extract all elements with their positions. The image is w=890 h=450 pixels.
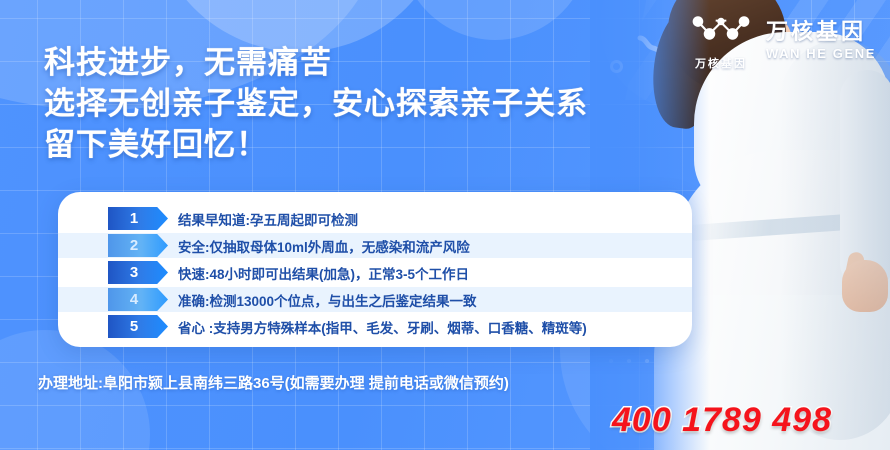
logo-name-cn: 万核基因 [766, 20, 876, 43]
feature-text: 安全:仅抽取母体10ml外周血，无感染和流产风险 [178, 236, 470, 256]
address-text: 办理地址:阜阳市颍上县南纬三路36号(如需要办理 提前电话或微信预约) [38, 372, 509, 393]
brand-logo[interactable]: 万核基因 万核基因 WAN HE GENE [688, 10, 876, 71]
molecule-dna-icon: 万核基因 [688, 10, 754, 71]
feature-number-badge: 4 [108, 288, 168, 311]
feature-number-badge: 3 [108, 261, 168, 284]
headline-block: 科技进步，无需痛苦 选择无创亲子鉴定，安心探索亲子关系 留下美好回忆！ [44, 42, 588, 166]
headline-line-2: 选择无创亲子鉴定，安心探索亲子关系 [44, 83, 588, 124]
feature-number: 1 [130, 210, 138, 227]
headline-line-3: 留下美好回忆！ [44, 124, 588, 165]
feature-text: 快速:48小时即可出结果(加急)，正常3-5个工作日 [178, 263, 469, 283]
feature-row: 4 准确:检测13000个位点，与出生之后鉴定结果一致 [58, 287, 692, 312]
feature-number: 3 [130, 264, 138, 281]
feature-card: 1 结果早知道:孕五周起即可检测 2 安全:仅抽取母体10ml外周血，无感染和流… [58, 192, 692, 347]
feature-number: 2 [130, 237, 138, 254]
feature-row: 5 省心 :支持男方特殊样本(指甲、毛发、牙刷、烟蒂、口香糖、精斑等) [58, 314, 692, 339]
poster-background: 万核基因 万核基因 WAN HE GENE 科技进步，无需痛苦 选择无创亲子鉴定… [0, 0, 890, 450]
logo-mark-caption: 万核基因 [688, 55, 754, 71]
feature-row: 2 安全:仅抽取母体10ml外周血，无感染和流产风险 [58, 233, 692, 258]
feature-number: 5 [130, 318, 138, 335]
logo-name-en: WAN HE GENE [766, 46, 876, 61]
phone-number[interactable]: 400 1789 498 [612, 401, 832, 440]
feature-number-badge: 2 [108, 234, 168, 257]
feature-text: 省心 :支持男方特殊样本(指甲、毛发、牙刷、烟蒂、口香糖、精斑等) [178, 317, 587, 337]
feature-row: 3 快速:48小时即可出结果(加急)，正常3-5个工作日 [58, 260, 692, 285]
feature-text: 结果早知道:孕五周起即可检测 [178, 209, 358, 229]
headline-line-1: 科技进步，无需痛苦 [44, 42, 588, 83]
feature-number: 4 [130, 291, 138, 308]
feature-text: 准确:检测13000个位点，与出生之后鉴定结果一致 [178, 290, 477, 310]
feature-row: 1 结果早知道:孕五周起即可检测 [58, 206, 692, 231]
feature-number-badge: 1 [108, 207, 168, 230]
feature-number-badge: 5 [108, 315, 168, 338]
